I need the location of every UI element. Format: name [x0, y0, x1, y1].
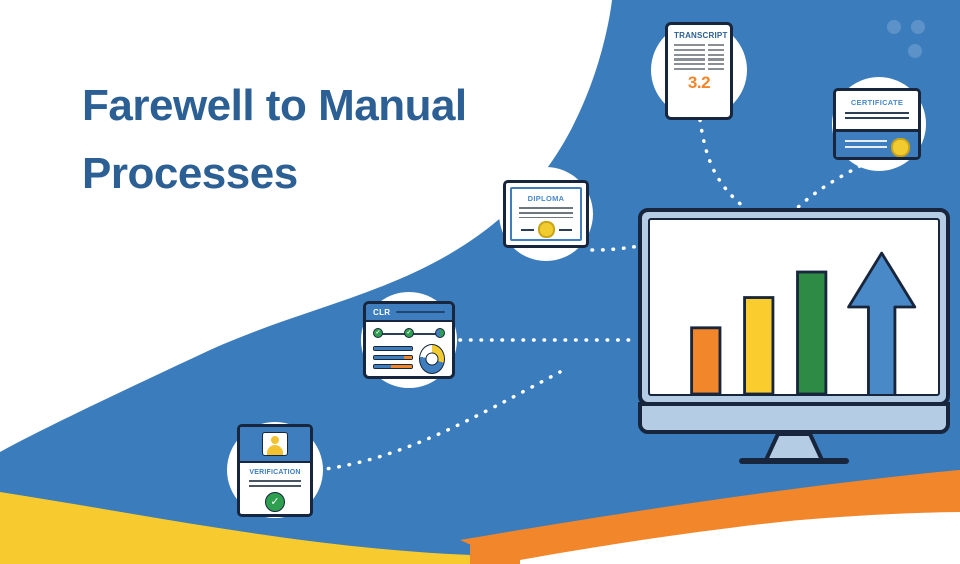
deco-dot-3 [908, 44, 922, 58]
clr-body: ✓ ✓ [366, 322, 452, 379]
monitor-frame [638, 208, 950, 406]
chart-bar-3 [798, 272, 826, 394]
deco-dot-2 [911, 20, 925, 34]
clr-progress-bar [373, 364, 413, 369]
headline-line-1: Farewell to Manual [82, 81, 467, 130]
clr-header: CLR [366, 304, 452, 322]
clr-header-bar [396, 311, 445, 314]
connector-verification-clr [318, 372, 560, 470]
clr-card[interactable]: CLR ✓ ✓ [363, 301, 455, 379]
chart-bar-2 [745, 298, 773, 394]
clr-step-in-progress-icon[interactable] [435, 328, 445, 338]
connector-transcript-monitor [700, 120, 750, 212]
diploma-title: DIPLOMA [519, 194, 573, 203]
transcript-title: TRANSCRIPT [674, 31, 724, 40]
transcript-gpa-value: 3.2 [674, 73, 724, 93]
chart-bar-1 [692, 328, 720, 394]
clr-step-complete-icon[interactable]: ✓ [404, 328, 414, 338]
growth-arrow-icon [849, 253, 915, 394]
clr-metrics [373, 344, 445, 374]
diploma-inner-frame: DIPLOMA [510, 187, 582, 241]
person-avatar-icon [262, 432, 288, 456]
gold-seal-icon [891, 138, 910, 157]
connector-certificate-monitor [795, 166, 860, 210]
desktop-monitor [638, 208, 950, 458]
certificate-title: CERTIFICATE [845, 98, 909, 107]
verification-title: VERIFICATION [240, 469, 310, 476]
diploma-seal-row [519, 221, 573, 238]
monitor-chin [638, 402, 950, 434]
certificate-bottom [836, 129, 918, 160]
green-check-icon: ✓ [265, 492, 285, 512]
gold-seal-icon [538, 221, 555, 238]
diploma-card[interactable]: DIPLOMA [503, 180, 589, 248]
slide-canvas: Farewell to Manual Processes TRANSCRIPT … [0, 0, 960, 564]
monitor-base [739, 458, 849, 464]
growth-chart [650, 220, 932, 394]
clr-step-complete-icon[interactable]: ✓ [373, 328, 383, 338]
certificate-top: CERTIFICATE [836, 91, 918, 129]
clr-progress-bar [373, 355, 413, 360]
page-title: Farewell to Manual Processes [82, 72, 552, 208]
transcript-text-lines [674, 44, 724, 70]
monitor-screen[interactable] [648, 218, 940, 396]
clr-step-track: ✓ ✓ [373, 328, 445, 338]
headline-line-2: Processes [82, 140, 552, 208]
connector-diploma-monitor [592, 246, 640, 250]
verification-header [240, 427, 310, 463]
verification-text-lines [240, 480, 310, 487]
verification-card[interactable]: VERIFICATION ✓ [237, 424, 313, 517]
clr-title: CLR [373, 308, 390, 317]
certificate-card[interactable]: CERTIFICATE [833, 88, 921, 160]
monitor-stand [762, 434, 826, 460]
clr-progress-bar [373, 346, 413, 351]
deco-dot-1 [887, 20, 901, 34]
clr-donut-chart [419, 344, 445, 374]
clr-progress-bars [373, 344, 413, 374]
transcript-card[interactable]: TRANSCRIPT 3.2 [665, 22, 733, 120]
